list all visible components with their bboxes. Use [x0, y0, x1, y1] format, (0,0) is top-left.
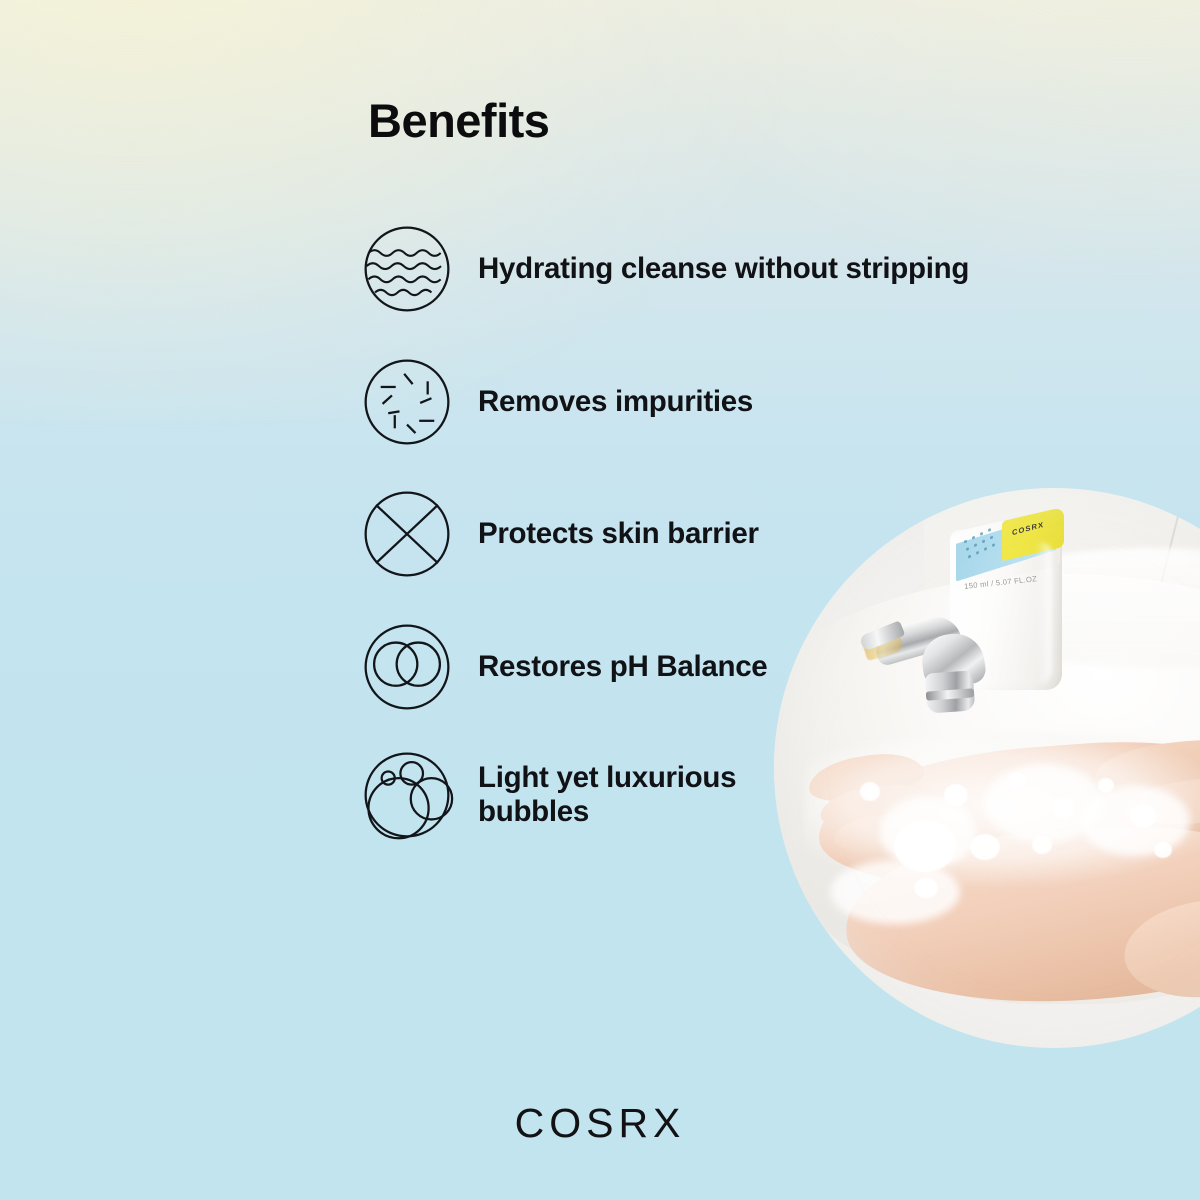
benefit-label: Protects skin barrier [478, 517, 759, 552]
benefit-item-restores-ph-balance: Restores pH Balance [360, 620, 767, 714]
benefit-label: Light yet luxurious bubbles [478, 761, 736, 830]
foam-bubble [1052, 798, 1074, 818]
lifestyle-photo-circle: COSRX 150 ml / 5.07 FL.OZ [774, 488, 1200, 1048]
benefit-item-hydrating-cleanse: Hydrating cleanse without stripping [360, 222, 969, 316]
scattered-particles-icon [360, 355, 454, 449]
benefit-item-protects-skin-barrier: Protects skin barrier [360, 487, 759, 581]
foam-bubble [894, 820, 956, 872]
benefit-label: Removes impurities [478, 385, 753, 420]
foam-bubble [1154, 842, 1172, 858]
benefit-item-removes-impurities: Removes impurities [360, 355, 753, 449]
foam-bubble [1008, 772, 1026, 789]
foam-bubble [1098, 778, 1114, 793]
marketing-image-canvas: COSRX 150 ml / 5.07 FL.OZ [0, 0, 1200, 1200]
hands-with-foam [794, 738, 1200, 1048]
foam-bubble [944, 784, 968, 806]
photo-content: COSRX 150 ml / 5.07 FL.OZ [774, 488, 1200, 1048]
foam-bubble [860, 782, 880, 801]
bubbles-icon [360, 748, 454, 842]
page-title: Benefits [368, 97, 549, 144]
water-waves-icon [360, 222, 454, 316]
foam-bubble [914, 878, 938, 898]
foam-bubble [1032, 836, 1052, 854]
benefit-label: Hydrating cleanse without stripping [478, 252, 969, 287]
bottle-gloss-highlight [1036, 542, 1052, 684]
sink-faucet [860, 616, 1000, 726]
brand-logo-cosrx: COSRX [0, 1100, 1200, 1147]
benefit-item-light-luxurious-bubbles: Light yet luxurious bubbles [360, 748, 736, 842]
benefit-label: Restores pH Balance [478, 650, 767, 685]
overlapping-circles-icon [360, 620, 454, 714]
foam-cluster [830, 860, 960, 924]
foam-bubble [970, 834, 1000, 860]
foam-bubble [1130, 804, 1156, 828]
crossed-lines-shield-icon [360, 487, 454, 581]
